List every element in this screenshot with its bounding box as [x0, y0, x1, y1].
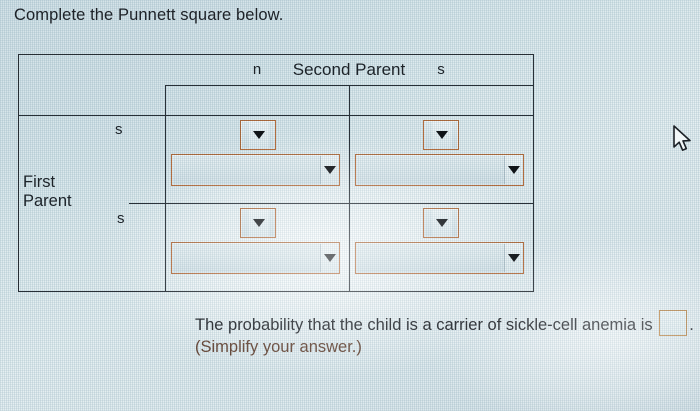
probability-answer-input[interactable] — [659, 310, 687, 336]
punnett-cell-r1c2 — [351, 116, 533, 203]
punnett-cell-r1c1 — [166, 116, 349, 203]
first-parent-label-line1: First — [23, 173, 72, 192]
chevron-down-icon[interactable] — [320, 156, 338, 184]
screen-photo: Complete the Punnett square below. Secon… — [0, 0, 700, 411]
punnett-square-table: Second Parent n s First Parent s s — [18, 54, 534, 292]
punnett-cell-r2c1 — [166, 205, 349, 291]
first-parent-allele-row2: s — [117, 210, 125, 227]
answer-question-line: The probability that the child is a carr… — [195, 310, 694, 336]
chevron-down-icon[interactable] — [504, 244, 522, 272]
allele-select-r2c1-first[interactable] — [240, 208, 276, 238]
allele-select-r1c2-first[interactable] — [423, 120, 459, 150]
allele-select-r2c2-first[interactable] — [423, 208, 459, 238]
first-parent-allele-row1: s — [115, 121, 123, 138]
chevron-down-icon[interactable] — [432, 210, 452, 236]
genotype-select-r2c1[interactable] — [171, 242, 340, 274]
first-parent-label-line2: Parent — [23, 192, 72, 211]
first-parent-label: First Parent — [23, 173, 72, 211]
row-divider-horizontal — [129, 203, 533, 204]
chevron-down-icon[interactable] — [249, 122, 269, 148]
chevron-down-icon[interactable] — [432, 122, 452, 148]
second-parent-allele-n: n — [165, 55, 349, 85]
arrow-pointer-icon — [672, 125, 694, 160]
punnett-cell-r2c2 — [351, 205, 533, 291]
answer-question-text: The probability that the child is a carr… — [195, 316, 653, 334]
genotype-select-r1c1[interactable] — [171, 154, 340, 186]
chevron-down-icon[interactable] — [320, 244, 338, 272]
page-title: Complete the Punnett square below. — [14, 6, 283, 25]
allele-select-r1c1-first[interactable] — [240, 120, 276, 150]
genotype-select-r1c2[interactable] — [355, 154, 524, 186]
genotype-select-r2c2[interactable] — [355, 242, 524, 274]
answer-period: . — [689, 316, 694, 334]
chevron-down-icon[interactable] — [504, 156, 522, 184]
simplify-hint: (Simplify your answer.) — [195, 338, 362, 357]
chevron-down-icon[interactable] — [249, 210, 269, 236]
second-parent-allele-s: s — [349, 55, 533, 85]
